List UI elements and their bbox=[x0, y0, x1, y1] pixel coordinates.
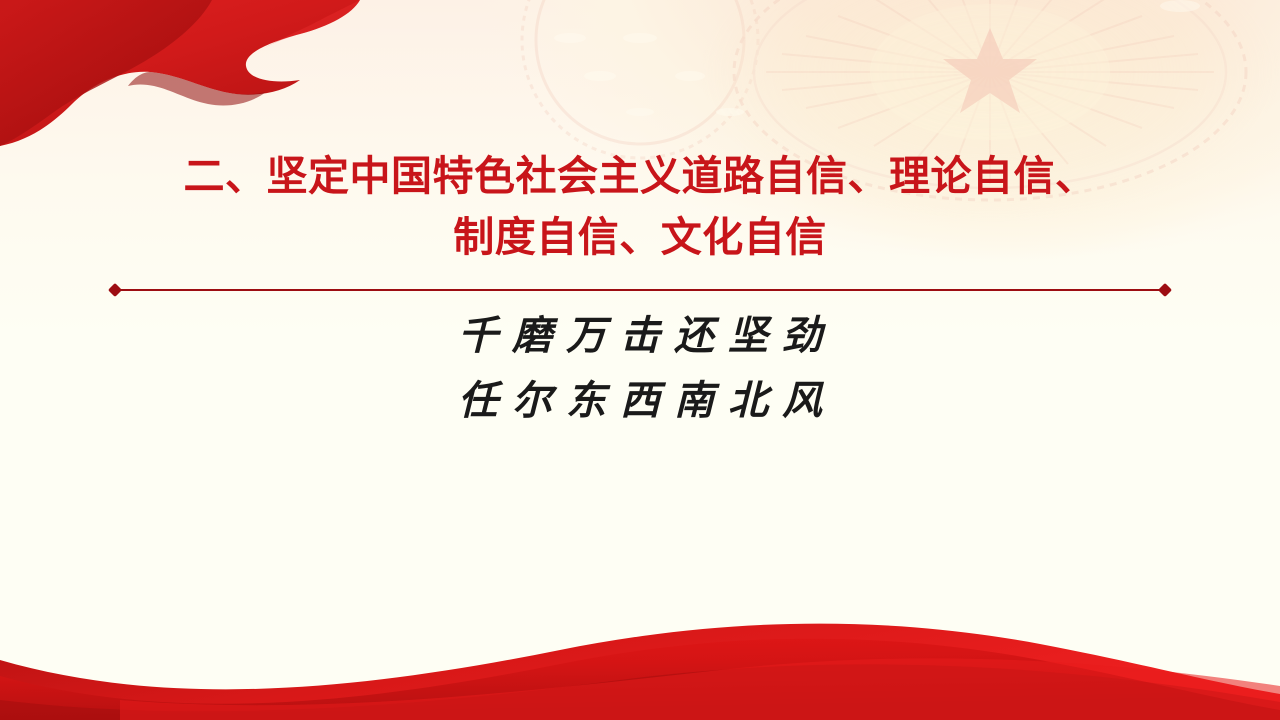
title-line-2: 制度自信、文化自信 bbox=[90, 207, 1190, 268]
divider-rule bbox=[110, 285, 1170, 295]
divider-right-diamond-icon bbox=[1158, 283, 1172, 297]
poem-block: 千磨万击还坚劲 任尔东西南北风 bbox=[0, 303, 1280, 433]
divider-line bbox=[116, 289, 1164, 291]
poem-line-2: 任尔东西南北风 bbox=[0, 368, 1280, 433]
presentation-slide: 二、坚定中国特色社会主义道路自信、理论自信、 制度自信、文化自信 千磨万击还坚劲… bbox=[0, 0, 1280, 720]
page-title: 二、坚定中国特色社会主义道路自信、理论自信、 制度自信、文化自信 bbox=[0, 146, 1280, 268]
title-line-1: 二、坚定中国特色社会主义道路自信、理论自信、 bbox=[90, 146, 1190, 207]
slide-content: 二、坚定中国特色社会主义道路自信、理论自信、 制度自信、文化自信 千磨万击还坚劲… bbox=[0, 0, 1280, 720]
poem-line-1: 千磨万击还坚劲 bbox=[0, 303, 1280, 368]
